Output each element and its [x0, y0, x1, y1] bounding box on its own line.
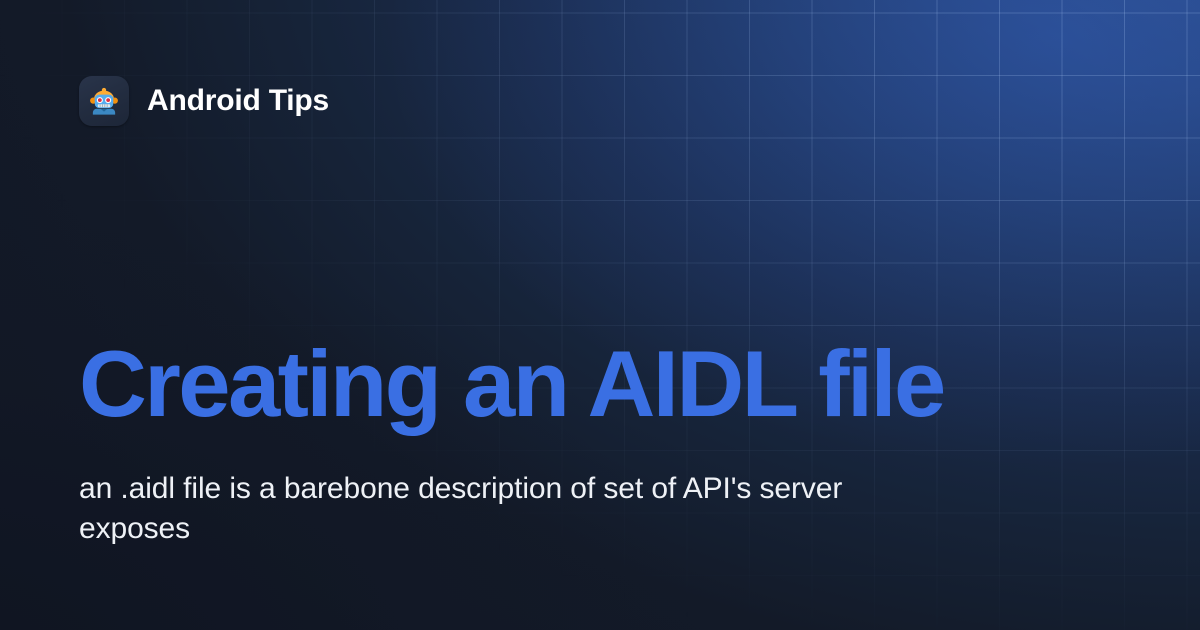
robot-emoji-icon: [87, 84, 121, 118]
page-title: Creating an AIDL file: [79, 336, 1140, 433]
hero-text-block: Creating an AIDL file an .aidl file is a…: [79, 336, 1140, 549]
brand-header[interactable]: Android Tips: [79, 76, 329, 126]
og-card: Android Tips Creating an AIDL file an .a…: [0, 0, 1200, 630]
card-content: Android Tips Creating an AIDL file an .a…: [0, 0, 1200, 630]
brand-logo-badge: [79, 76, 129, 126]
brand-name: Android Tips: [147, 86, 329, 116]
page-description: an .aidl file is a barebone description …: [79, 469, 879, 549]
